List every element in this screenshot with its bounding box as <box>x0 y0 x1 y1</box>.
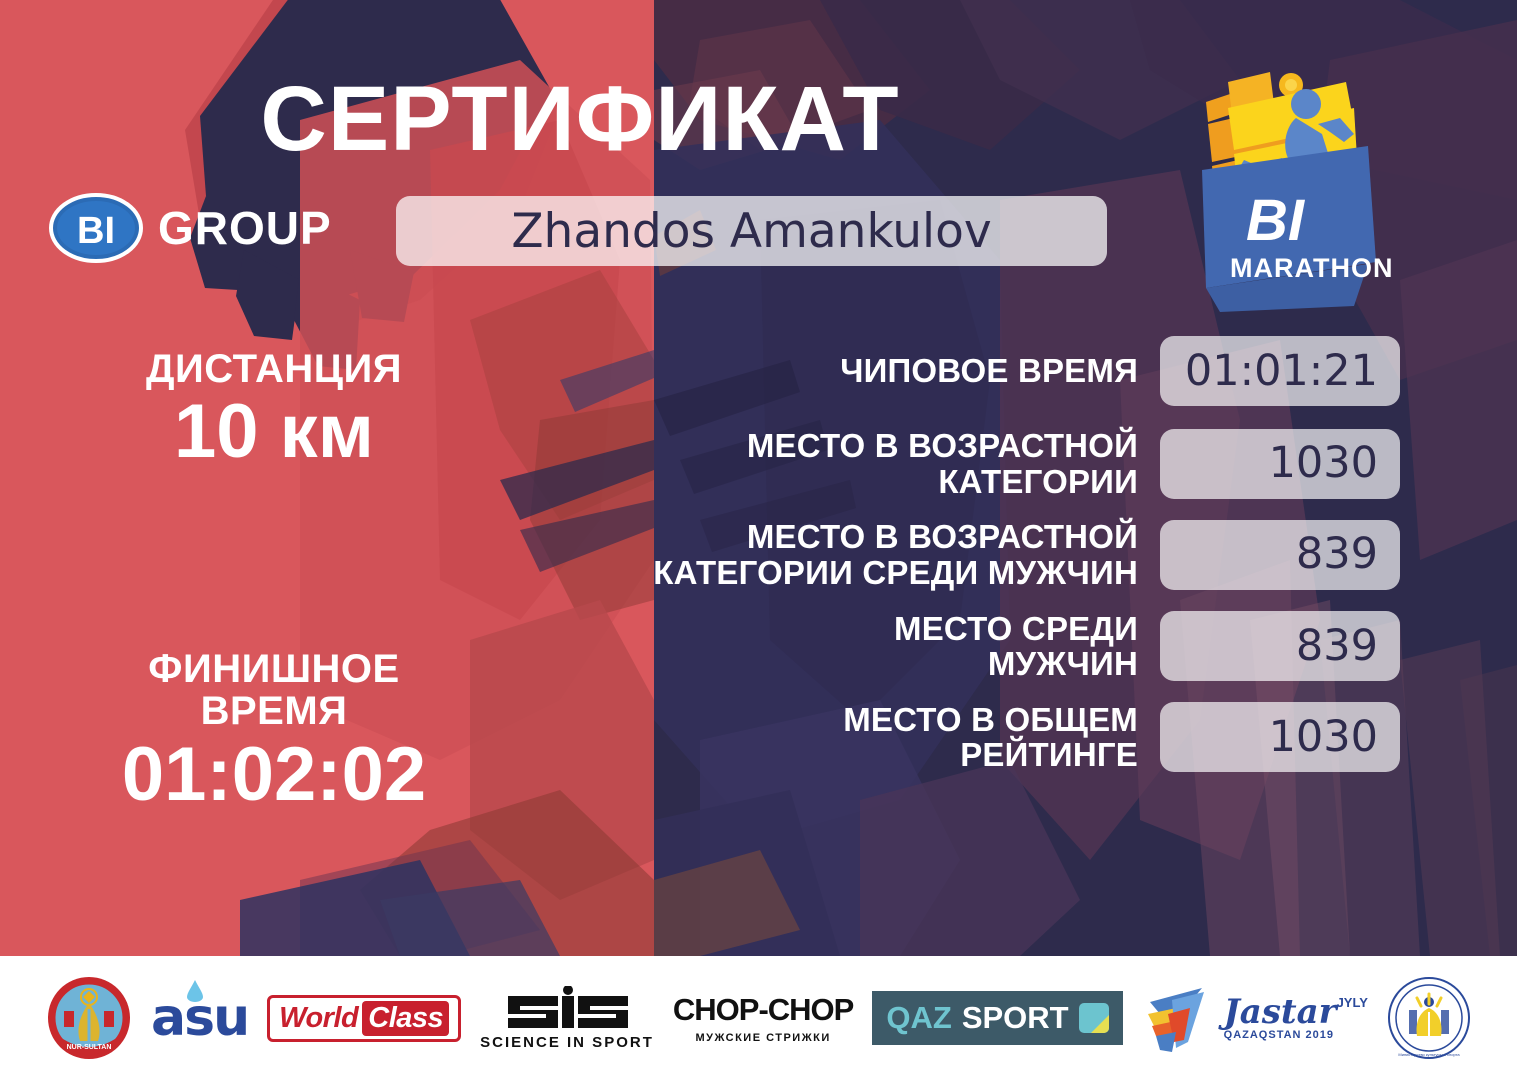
marathon-logo-line2: MARATHON <box>1230 253 1393 283</box>
stat-pill-men-place: 839 <box>1160 611 1400 681</box>
marathon-logo-line1: BI <box>1246 188 1306 253</box>
sis-tagline: SCIENCE IN SPORT <box>480 1034 654 1051</box>
stat-pill-overall-place: 1030 <box>1160 702 1400 772</box>
sponsor-bar: NUR-SULTAN asu World Class <box>0 956 1517 1080</box>
jastar-jyly-superscript: JYLY <box>1337 995 1368 1010</box>
sponsor-chop-chop: CHOP-CHOP МУЖСКИЕ СТРИЖКИ <box>673 992 853 1044</box>
qazsport-word1: QAZ <box>886 1000 951 1036</box>
stat-label-line2: РЕЙТИНГЕ <box>600 737 1138 773</box>
nur-sultan-emblem-text: NUR-SULTAN <box>67 1044 112 1051</box>
sponsor-nur-sultan-emblem: NUR-SULTAN <box>46 975 132 1061</box>
stat-label-overall-place: МЕСТО В ОБЩЕМ РЕЙТИНГЕ <box>600 702 1160 773</box>
stat-label-line1: ЧИПОВОЕ ВРЕМЯ <box>600 353 1138 389</box>
finish-time-label-line1: ФИНИШНОЕ <box>24 648 524 690</box>
jastar-tagline: QAZAQSTAN 2019 <box>1224 1029 1334 1041</box>
stat-row-chip-time: ЧИПОВОЕ ВРЕМЯ 01:01:21 <box>600 336 1400 406</box>
stat-row-overall-place: МЕСТО В ОБЩЕМ РЕЙТИНГЕ 1030 <box>600 702 1400 773</box>
stat-value-age-category-place: 1030 <box>1269 442 1378 485</box>
sponsor-sport-ministry-emblem: Министерство культуры и спорта <box>1387 976 1471 1060</box>
stat-pill-age-category-men-place: 839 <box>1160 520 1400 590</box>
stat-label-line2: МУЖЧИН <box>600 646 1138 682</box>
nur-sultan-emblem-icon: NUR-SULTAN <box>46 975 132 1061</box>
certificate-canvas: BI GROUP СЕРТИФИКАТ Zhandos Amankulov <box>0 0 1517 1080</box>
stat-label-line1: МЕСТО В ВОЗРАСТНОЙ <box>600 519 1138 555</box>
stat-row-age-category-men-place: МЕСТО В ВОЗРАСТНОЙ КАТЕГОРИИ СРЕДИ МУЖЧИ… <box>600 519 1400 590</box>
finish-time-value: 01:02:02 <box>24 735 524 815</box>
sponsor-world-class: World Class <box>267 995 461 1042</box>
stat-label-line2: КАТЕГОРИИ СРЕДИ МУЖЧИН <box>600 555 1138 591</box>
distance-block: ДИСТАНЦИЯ 10 км <box>24 348 524 472</box>
sis-logo-icon <box>502 986 632 1034</box>
participant-name-banner: Zhandos Amankulov <box>396 196 1107 266</box>
stat-label-line1: МЕСТО В ВОЗРАСТНОЙ <box>600 428 1138 464</box>
distance-value: 10 км <box>24 392 524 472</box>
sponsor-asu: asu <box>151 992 248 1044</box>
jastar-wordmark: Jastar <box>1224 995 1337 1029</box>
chop-chop-tagline: МУЖСКИЕ СТРИЖКИ <box>695 1032 830 1044</box>
sponsor-sis: SCIENCE IN SPORT <box>480 986 654 1051</box>
jastar-mark-icon <box>1142 980 1218 1056</box>
qazsport-word2: SPORT <box>962 1000 1069 1036</box>
stat-label-men-place: МЕСТО СРЕДИ МУЖЧИН <box>600 611 1160 682</box>
distance-label: ДИСТАНЦИЯ <box>24 348 524 390</box>
finish-time-block: ФИНИШНОЕ ВРЕМЯ 01:02:02 <box>24 648 524 815</box>
stat-label-age-category-men-place: МЕСТО В ВОЗРАСТНОЙ КАТЕГОРИИ СРЕДИ МУЖЧИ… <box>600 519 1160 590</box>
stat-row-men-place: МЕСТО СРЕДИ МУЖЧИН 839 <box>600 611 1400 682</box>
stat-label-age-category-place: МЕСТО В ВОЗРАСТНОЙ КАТЕГОРИИ <box>600 428 1160 499</box>
bi-marathon-logo: BI MARATHON <box>1178 62 1398 312</box>
world-class-word2: Class <box>362 1001 449 1036</box>
bi-group-wordmark: GROUP <box>158 205 332 251</box>
stat-label-line1: МЕСТО В ОБЩЕМ <box>600 702 1138 738</box>
finish-time-label-line2: ВРЕМЯ <box>24 690 524 732</box>
sport-ministry-emblem-text: Министерство культуры и спорта <box>1398 1052 1460 1057</box>
bi-group-logo: BI GROUP <box>48 192 332 264</box>
certificate-title: СЕРТИФИКАТ <box>0 73 1160 165</box>
stat-value-overall-place: 1030 <box>1269 716 1378 759</box>
stat-label-line1: МЕСТО СРЕДИ <box>600 611 1138 647</box>
sponsor-qazsport: QAZ SPORT <box>872 991 1122 1045</box>
sport-ministry-emblem-icon: Министерство культуры и спорта <box>1387 976 1471 1060</box>
bi-logo-text: BI <box>77 210 115 252</box>
participant-name: Zhandos Amankulov <box>511 208 991 255</box>
asu-droplet-icon <box>187 980 203 1002</box>
stat-value-chip-time: 01:01:21 <box>1185 350 1378 393</box>
stat-label-line2: КАТЕГОРИИ <box>600 464 1138 500</box>
stat-value-men-place: 839 <box>1296 625 1378 668</box>
sponsor-jastar-jyly: Jastar JYLY QAZAQSTAN 2019 <box>1142 980 1368 1056</box>
world-class-word1: World <box>279 1002 358 1035</box>
stats-list: ЧИПОВОЕ ВРЕМЯ 01:01:21 МЕСТО В ВОЗРАСТНО… <box>600 336 1400 791</box>
chop-chop-wordmark: CHOP-CHOP <box>673 992 853 1028</box>
bi-logo-icon: BI <box>48 192 144 264</box>
qazsport-mark-icon <box>1079 1003 1109 1033</box>
stat-pill-chip-time: 01:01:21 <box>1160 336 1400 406</box>
stat-row-age-category-place: МЕСТО В ВОЗРАСТНОЙ КАТЕГОРИИ 1030 <box>600 428 1400 499</box>
stat-value-age-category-men-place: 839 <box>1296 533 1378 576</box>
stat-pill-age-category-place: 1030 <box>1160 429 1400 499</box>
stat-label-chip-time: ЧИПОВОЕ ВРЕМЯ <box>600 353 1160 389</box>
